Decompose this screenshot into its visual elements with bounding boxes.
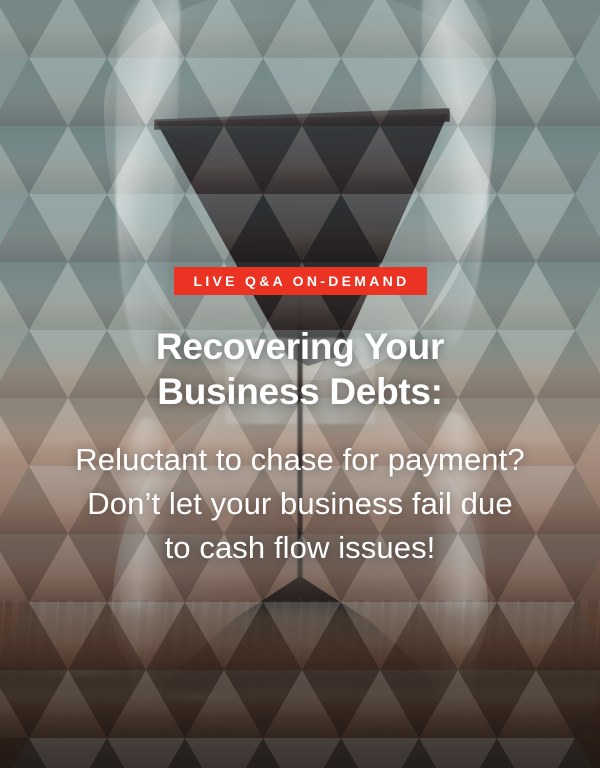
- headline-line-1: Recovering Your: [156, 324, 444, 369]
- subheading: Reluctant to chase for payment? Don’t le…: [75, 438, 524, 570]
- promo-content: LIVE Q&A ON-DEMAND Recovering Your Busin…: [0, 0, 600, 768]
- subheading-line-3: to cash flow issues!: [75, 526, 524, 570]
- subheading-line-1: Reluctant to chase for payment?: [75, 438, 524, 482]
- page-title: Recovering Your Business Debts:: [156, 324, 444, 414]
- promo-card: LIVE Q&A ON-DEMAND Recovering Your Busin…: [0, 0, 600, 768]
- eyebrow-badge: LIVE Q&A ON-DEMAND: [174, 267, 427, 295]
- subheading-line-2: Don’t let your business fail due: [75, 482, 524, 526]
- headline-line-2: Business Debts:: [156, 369, 444, 414]
